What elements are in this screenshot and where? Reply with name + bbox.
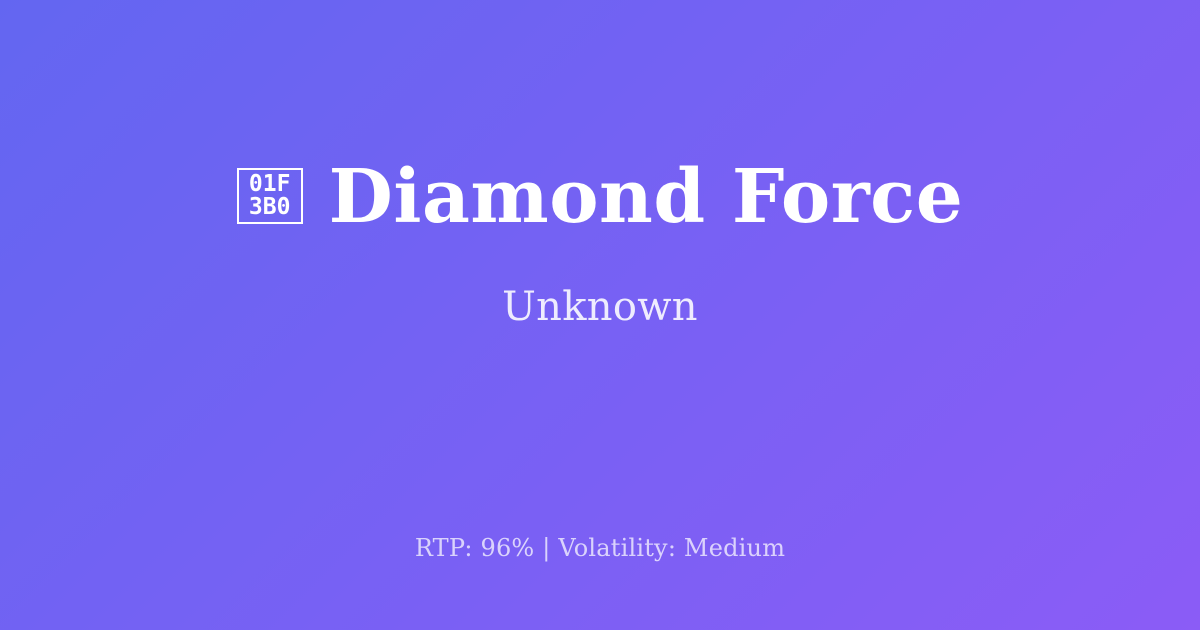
game-stats-meta: RTP: 96% | Volatility: Medium [0, 533, 1200, 564]
page-title: Diamond Force [329, 159, 964, 237]
slot-machine-icon-hex-bottom: 3B0 [249, 196, 291, 219]
hero-block: 01F 3B0 Diamond Force Unknown [0, 0, 1200, 490]
card-subtitle: Unknown [502, 283, 698, 331]
slot-machine-icon: 01F 3B0 [237, 168, 303, 224]
game-og-card: 01F 3B0 Diamond Force Unknown RTP: 96% |… [0, 0, 1200, 630]
slot-machine-icon-hex-top: 01F [249, 173, 291, 196]
title-row: 01F 3B0 Diamond Force [237, 159, 964, 237]
